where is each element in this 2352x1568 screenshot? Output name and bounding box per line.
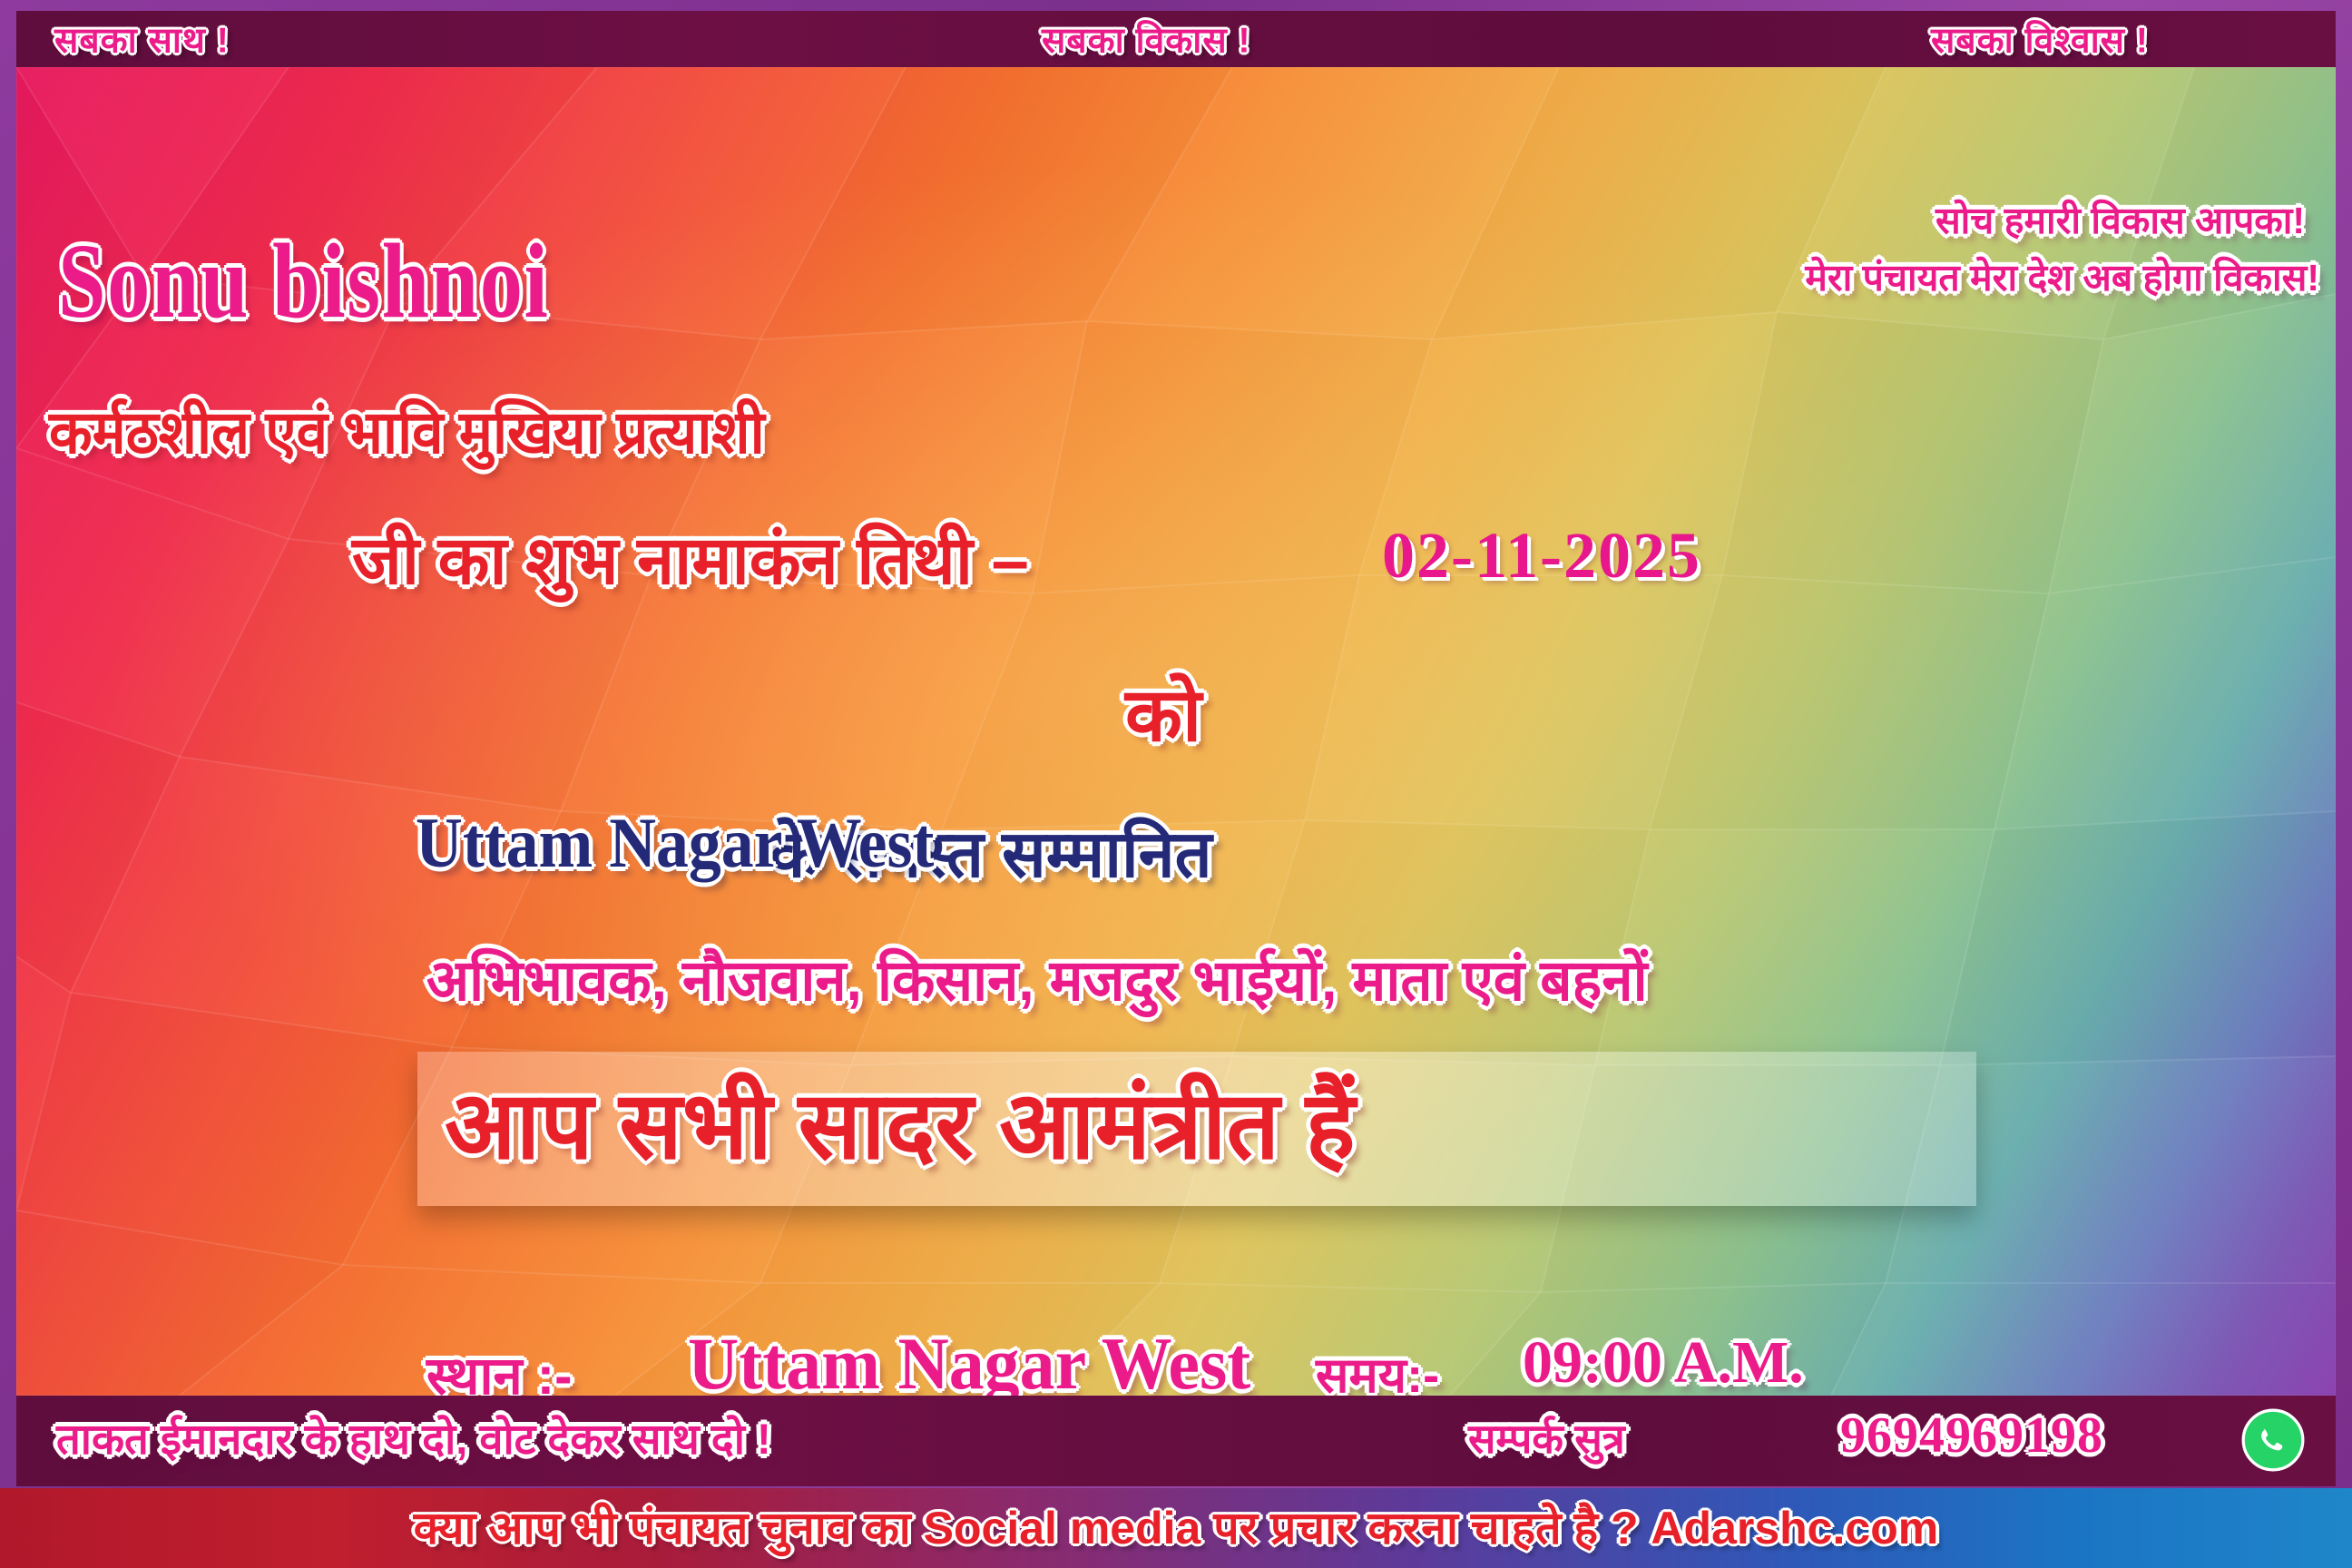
nomination-date-label: जी का शुभ नामाकंन तिथी – xyxy=(352,512,1029,603)
promo-text[interactable]: क्या आप भी पंचायत चुनाव का Social media … xyxy=(16,1495,2336,1557)
slogan-sabka-vishwas: सबका विश्वास ! xyxy=(1931,15,2149,64)
audience-line: अभिभावक, नौजवान, किसान, मजदुर भाईयों, मा… xyxy=(426,940,1648,1017)
bottom-contact-bar: ताकत ईमानदार के हाथ दो, वोट देकर साथ दो … xyxy=(16,1396,2336,1486)
connector-ko: को xyxy=(1125,661,1201,763)
contact-label: सम्पर्क सुत्र xyxy=(1468,1410,1625,1465)
time-value: 09:00 A.M. xyxy=(1523,1328,1804,1396)
corner-slogan-line-1: सोच हमारी विकास आपका! xyxy=(1935,194,2305,245)
venue-time-row: स्थान :- समय:- Uttam Nagar West 09:00 A.… xyxy=(16,1321,2336,1396)
candidate-name: Sonu bishnoi xyxy=(58,220,549,343)
corner-slogan-line-2: मेरा पंचायत मेरा देश अब होगा विकास! xyxy=(1805,251,2319,302)
nomination-date-value: 02-11-2025 xyxy=(1382,518,1701,593)
invitation-text: आप सभी सादर आमंत्रीत हैं xyxy=(445,1058,1355,1186)
venue-label: स्थान :- xyxy=(426,1338,572,1396)
poster-artwork: Sonu bishnoi सोच हमारी विकास आपका! मेरा … xyxy=(16,67,2336,1396)
place-english-name: Uttam Nagar West xyxy=(416,802,934,884)
vote-slogan: ताकत ईमानदार के हाथ दो, वोट देकर साथ दो … xyxy=(56,1408,771,1466)
election-poster: सबका साथ ! सबका विकास ! सबका विश्वास ! xyxy=(0,0,2352,1568)
candidate-subtitle: कर्मठशील एवं भावि मुखिया प्रत्याशी xyxy=(49,389,765,471)
contact-number[interactable]: 9694969198 xyxy=(1840,1406,2103,1465)
place-row: के समस्त सम्मानित Uttam Nagar West xyxy=(16,802,2336,902)
whatsapp-icon[interactable] xyxy=(2241,1408,2305,1472)
top-slogan-bar: सबका साथ ! सबका विकास ! सबका विश्वास ! xyxy=(16,11,2336,67)
slogan-sabka-vikas: सबका विकास ! xyxy=(1042,15,1251,64)
venue-value: Uttam Nagar West xyxy=(688,1321,1250,1396)
promo-strip: क्या आप भी पंचायत चुनाव का Social media … xyxy=(0,1488,2352,1568)
slogan-sabka-saath: सबका साथ ! xyxy=(54,15,230,64)
time-label: समय:- xyxy=(1316,1339,1439,1396)
